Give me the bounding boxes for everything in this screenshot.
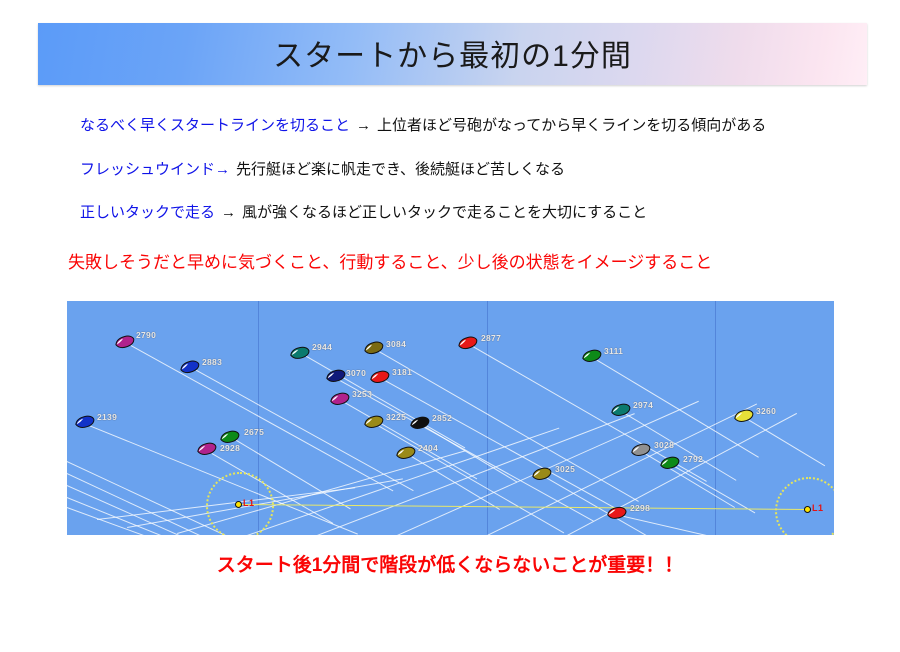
boat-icon <box>609 401 632 418</box>
boat-sail-number: 3084 <box>386 339 406 349</box>
boat-sail-number: 2792 <box>683 454 703 464</box>
boat-wake-line <box>340 380 594 521</box>
boat-sail-number: 2675 <box>244 427 264 437</box>
boat-icon <box>530 465 553 482</box>
boat-sail-number: 2298 <box>630 503 650 513</box>
boat-wake-line <box>67 507 321 535</box>
boat-icon <box>658 454 681 471</box>
boat-wake-line <box>422 425 517 483</box>
boat-icon <box>394 444 417 461</box>
boat-wake-line <box>195 369 414 491</box>
boat-wake-line <box>131 345 394 491</box>
bullet-3-arrow-icon: → <box>221 204 236 221</box>
boat-wake-line <box>567 413 797 535</box>
boat-icon <box>456 334 480 352</box>
boat-icon <box>328 390 351 407</box>
boat-icon <box>368 368 391 385</box>
bullet-2-arrow-icon: → <box>215 161 230 178</box>
boat-icon <box>113 333 137 351</box>
boat-sail-number: 3025 <box>555 464 575 474</box>
boat-icon <box>324 367 347 384</box>
boat-wake-line <box>747 419 825 466</box>
boat-icon <box>580 347 603 364</box>
boat-wake-line <box>247 428 559 535</box>
boat-sail-number: 3111 <box>604 346 623 356</box>
bullet-1-rest: 上位者ほど号砲がなってから早くラインを切る傾向がある <box>377 117 766 134</box>
bullet-3-lead: 正しいタックで走る <box>80 204 215 221</box>
bullet-1-arrow-icon: → <box>356 117 371 134</box>
boat-sail-number: 2404 <box>418 443 438 453</box>
page-title: スタートから最初の1分間 <box>38 31 867 75</box>
boat-sail-number: 2139 <box>97 412 117 422</box>
boat-icon <box>362 339 386 357</box>
mark-label: L1 <box>243 498 255 508</box>
boat-sail-number: 2974 <box>633 400 653 410</box>
boat-sail-number: 3070 <box>346 368 366 378</box>
boat-sail-number: 2944 <box>312 342 332 352</box>
buoy-mark-icon <box>804 506 811 513</box>
boat-sail-number: 3253 <box>352 389 372 399</box>
bullet-2-lead: フレッシュウインド <box>80 161 215 178</box>
boat-icon <box>732 407 755 424</box>
boat-sail-number: 2928 <box>220 443 240 453</box>
boat-icon <box>195 440 218 457</box>
mark-label: L1 <box>812 503 824 513</box>
bullet-2-rest: 先行艇ほど楽に帆走でき、後続艇ほど苦しくなる <box>236 161 565 178</box>
boat-sail-number: 3181 <box>392 367 412 377</box>
boat-wake-line <box>673 465 756 513</box>
boat-icon <box>73 413 96 430</box>
boat-icon <box>178 358 202 376</box>
boat-sail-number: 2852 <box>432 413 452 423</box>
boat-wake-line <box>343 401 478 479</box>
boat-sail-number: 3260 <box>756 406 776 416</box>
race-diagram-panel: L1L1279028832944325328522404213926752928… <box>67 301 834 535</box>
boat-wake-line <box>317 413 635 535</box>
bullet-line-2: フレッシュウインド→先行艇ほど楽に帆走でき、後続艇ほど苦しくなる <box>80 162 565 179</box>
buoy-mark-icon <box>235 501 242 508</box>
boat-icon <box>362 413 385 430</box>
boat-sail-number: 3028 <box>654 440 674 450</box>
title-banner: スタートから最初の1分間 <box>38 23 867 85</box>
boat-icon <box>288 345 311 362</box>
boat-sail-number: 2790 <box>136 330 156 340</box>
emphasis-red-text: 失敗しそうだと早めに気づくこと、行動すること、少し後の状態をイメージすること <box>68 248 712 273</box>
bullet-1-lead: なるべく早くスタートラインを切ること <box>80 117 350 134</box>
grid-line-vertical <box>715 301 716 535</box>
bullet-line-1: なるべく早くスタートラインを切ること→上位者ほど号砲がなってから早くラインを切る… <box>80 118 766 135</box>
start-line <box>238 504 807 510</box>
bullet-line-3: 正しいタックで走る→風が強くなるほど正しいタックで走ることを大切にすること <box>80 205 647 222</box>
boat-icon <box>629 441 652 458</box>
boat-sail-number: 2877 <box>481 333 501 343</box>
boat-sail-number: 2883 <box>202 357 222 367</box>
boat-sail-number: 3225 <box>386 412 406 422</box>
bullet-3-rest: 風が強くなるほど正しいタックで走ることを大切にすること <box>242 204 647 221</box>
bottom-caption: スタート後1分間で階段が低くならないことが重要！！ <box>0 550 900 577</box>
boat-icon <box>408 414 431 431</box>
